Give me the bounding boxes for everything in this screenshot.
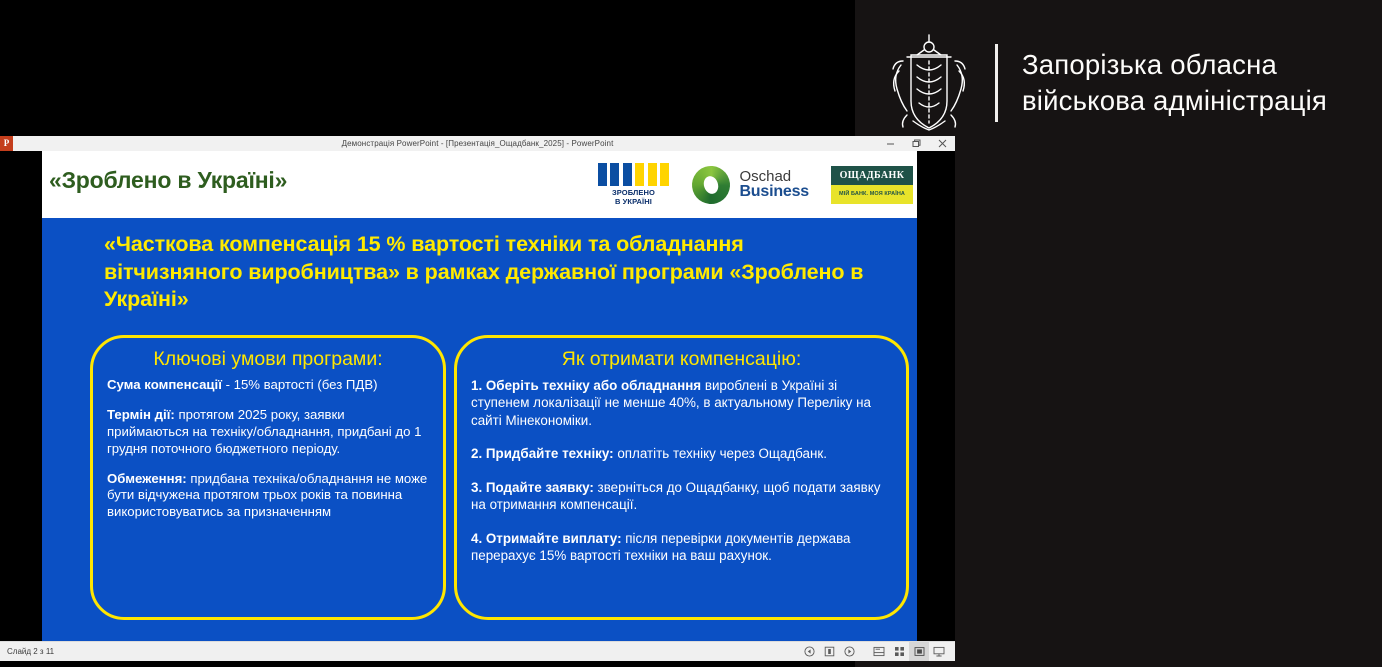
notes-icon[interactable] (869, 642, 889, 661)
slide-logo-row: ЗРОБЛЕНО В УКРАЇНІ Oschad Business ОЩАДБ… (596, 157, 913, 212)
window-controls (877, 136, 955, 151)
panel-item-lead: 2. Придбайте техніку: (471, 446, 614, 461)
panel-left-title: Ключові умови програми: (107, 348, 429, 371)
panel-item: 3. Подайте заявку: зверніться до Ощадбан… (471, 479, 892, 514)
panel-item: Термін дії: протягом 2025 року, заявки п… (107, 407, 429, 458)
panel-item-lead: Обмеження: (107, 471, 187, 486)
slideshow-stage[interactable]: «Зроблено в Україні» ЗРОБЛЕНО В УКРАЇНІ … (0, 151, 955, 641)
panel-item: 4. Отримайте виплату: після перевірки до… (471, 530, 892, 565)
panel-right-title: Як отримати компенсацію: (471, 348, 892, 371)
panel-right-body: 1. Оберіть техніку або обладнання виробл… (471, 377, 892, 564)
made-in-ukraine-caption: ЗРОБЛЕНО В УКРАЇНІ (596, 189, 670, 206)
presenter-view-icon[interactable] (929, 642, 949, 661)
all-slides-grid-icon[interactable] (889, 642, 909, 661)
panel-item-text: - 15% вартості (без ПДВ) (222, 377, 378, 392)
restore-button[interactable] (903, 136, 929, 151)
slideshow-controls (799, 642, 955, 661)
flag-bars-icon (596, 163, 670, 186)
zaporizhzhia-coat-of-arms-icon (877, 31, 981, 135)
made-in-ukraine-logo: ЗРОБЛЕНО В УКРАЇНІ (596, 163, 670, 206)
previous-slide-icon[interactable] (799, 642, 819, 661)
slide-canvas: «Зроблено в Україні» ЗРОБЛЕНО В УКРАЇНІ … (42, 151, 917, 641)
oschad-line2: Business (739, 184, 809, 200)
panel-key-conditions: Ключові умови програми: Сума компенсації… (90, 335, 446, 620)
panel-left-body: Сума компенсації - 15% вартості (без ПДВ… (107, 377, 429, 521)
panel-item: Сума компенсації - 15% вартості (без ПДВ… (107, 377, 429, 394)
pause-icon[interactable] (819, 642, 839, 661)
panel-item: Обмеження: придбана техніка/обладнання н… (107, 471, 429, 522)
minimize-button[interactable] (877, 136, 903, 151)
brand-header: Запорізька обласна військова адміністрац… (877, 28, 1377, 138)
panel-how-to-get-compensation: Як отримати компенсацію: 1. Оберіть техн… (454, 335, 909, 620)
panel-item-lead: 1. Оберіть техніку або обладнання (471, 378, 701, 393)
slide-header: «Зроблено в Україні» ЗРОБЛЕНО В УКРАЇНІ … (42, 151, 917, 218)
oschadbank-name: ОЩАДБАНК (831, 166, 913, 185)
panel-item: 2. Придбайте техніку: оплатіть техніку ч… (471, 445, 892, 462)
zoom-slide-icon[interactable] (909, 642, 929, 661)
brand-divider (995, 44, 998, 122)
oschad-business-wordmark: Oschad Business (739, 169, 809, 201)
slide-counter: Слайд 2 з 11 (7, 647, 54, 656)
panel-item: 1. Оберіть техніку або обладнання виробл… (471, 377, 892, 429)
oschad-ring-icon (688, 161, 736, 209)
powerpoint-titlebar[interactable]: P Демонстрація PowerPoint - [Презентація… (0, 136, 955, 151)
slide-heading: «Часткова компенсація 15 % вартості техн… (104, 231, 864, 314)
panel-item-lead: 4. Отримайте виплату: (471, 531, 622, 546)
window-title: Демонстрація PowerPoint - [Презентація_О… (0, 136, 955, 151)
oschadbank-logo: ОЩАДБАНК МІЙ БАНК. МОЯ КРАЇНА (831, 166, 913, 204)
oschad-line1: Oschad (739, 169, 809, 184)
oschadbank-tagline: МІЙ БАНК. МОЯ КРАЇНА (831, 185, 913, 204)
panel-item-text: оплатіть техніку через Ощадбанк. (614, 446, 827, 461)
powerpoint-window: P Демонстрація PowerPoint - [Презентація… (0, 136, 955, 661)
brand-title: Запорізька обласна військова адміністрац… (1022, 47, 1327, 120)
oschad-business-logo: Oschad Business (692, 166, 809, 204)
close-button[interactable] (929, 136, 955, 151)
next-slide-icon[interactable] (839, 642, 859, 661)
panel-item-lead: Сума компенсації (107, 377, 222, 392)
panel-item-lead: Термін дії: (107, 407, 175, 422)
powerpoint-status-bar: Слайд 2 з 11 (0, 641, 955, 661)
panel-item-lead: 3. Подайте заявку: (471, 480, 594, 495)
slide-title: «Зроблено в Україні» (49, 167, 287, 194)
